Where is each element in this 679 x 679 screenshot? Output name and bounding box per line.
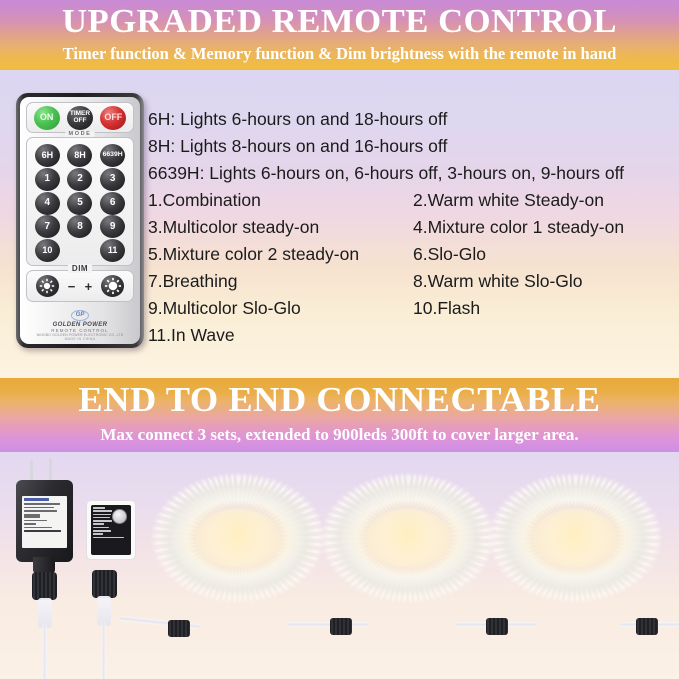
mode-item-1: 1.Combination	[148, 187, 413, 214]
remote-button-dim-down[interactable]	[36, 275, 59, 297]
timer-label-line2: OFF	[73, 118, 86, 125]
remote-button-6639h[interactable]: 6639H	[100, 144, 125, 167]
remote-button-3[interactable]: 3	[100, 168, 125, 191]
remote-control-device: ON TIMER OFF OFF MODE 6H 8H 6639H	[16, 93, 144, 348]
mode-item-4: 4.Mixture color 1 steady-on	[413, 214, 673, 241]
mode-item-8: 8.Warm white Slo-Glo	[413, 268, 673, 295]
controller-knob[interactable]	[112, 509, 127, 524]
remote-button-7[interactable]: 7	[35, 215, 60, 238]
controller-box	[86, 500, 136, 560]
mode-item-11: 11.In Wave	[148, 322, 413, 349]
mode-item-empty	[413, 322, 673, 349]
brightness-low-icon	[39, 278, 55, 294]
remote-number-row-4: 10 11	[31, 239, 129, 262]
timer-line-6h: 6H: Lights 6-hours on and 18-hours off	[148, 106, 673, 133]
remote-mode-keypad: 6H 8H 6639H 1 2 3 4 5 6	[26, 137, 134, 266]
remote-button-off[interactable]: OFF	[100, 106, 126, 130]
banner-upgraded-remote-control: UPGRADED REMOTE CONTROL Timer function &…	[0, 0, 679, 70]
remote-dim-plus-sign: +	[85, 280, 93, 293]
remote-button-6h[interactable]: 6H	[35, 144, 60, 167]
timer-line-6639h: 6639H: Lights 6-hours on, 6-hours off, 3…	[148, 160, 673, 187]
remote-mode-section: MODE 6H 8H 6639H 1 2 3	[26, 137, 134, 266]
coil-3-glow	[533, 509, 617, 567]
mode-item-6: 6.Slo-Glo	[413, 241, 673, 268]
remote-button-11[interactable]: 11	[100, 239, 125, 262]
set-connector-2	[330, 618, 352, 635]
gp-logo-icon: GP	[71, 310, 89, 321]
adapter-connector-barrel	[32, 572, 57, 600]
remote-dim-row: − +	[26, 270, 134, 302]
controller-wire	[101, 622, 106, 679]
banner-end-to-end-connectable: END TO END CONNECTABLE Max connect 3 set…	[0, 378, 679, 452]
remote-hour-row: 6H 8H 6639H	[31, 144, 129, 167]
remote-button-10[interactable]: 10	[35, 239, 60, 262]
remote-number-row-3: 7 8 9	[31, 215, 129, 238]
remote-button-8[interactable]: 8	[67, 215, 92, 238]
timer-line-8h: 8H: Lights 8-hours on and 16-hours off	[148, 133, 673, 160]
banner-mid-title: END TO END CONNECTABLE	[0, 378, 679, 417]
controller-connector-barrel	[92, 570, 117, 598]
power-adapter	[16, 480, 73, 562]
remote-info-panel: ON TIMER OFF OFF MODE 6H 8H 6639H	[0, 70, 679, 378]
remote-button-4[interactable]: 4	[35, 192, 60, 215]
set-connector-4	[636, 618, 658, 635]
remote-faceplate: ON TIMER OFF OFF MODE 6H 8H 6639H	[20, 97, 140, 344]
link-wire-1-2	[288, 622, 368, 627]
mode-item-10: 10.Flash	[413, 295, 673, 322]
banner-top-title: UPGRADED REMOTE CONTROL	[0, 0, 679, 39]
remote-dim-label: DIM	[68, 264, 92, 273]
coil-2-glow	[366, 509, 450, 567]
banner-top-subtitle: Timer function & Memory function & Dim b…	[0, 39, 679, 63]
remote-dim-minus-sign: −	[68, 280, 76, 293]
remote-button-9[interactable]: 9	[100, 215, 125, 238]
set-connector-3	[486, 618, 508, 635]
product-infographic: UPGRADED REMOTE CONTROL Timer function &…	[0, 0, 679, 679]
remote-power-row: ON TIMER OFF OFF	[26, 102, 134, 133]
remote-origin: MADE IN CHINA	[26, 338, 134, 341]
remote-button-6[interactable]: 6	[100, 192, 125, 215]
remote-button-2[interactable]: 2	[67, 168, 92, 191]
remote-button-8h[interactable]: 8H	[67, 144, 92, 167]
remote-dim-section: DIM	[26, 270, 134, 302]
remote-keypad-gap	[67, 239, 92, 262]
remote-button-timer-off[interactable]: TIMER OFF	[67, 106, 93, 130]
remote-mode-label: MODE	[66, 131, 95, 137]
remote-button-on[interactable]: ON	[34, 106, 60, 130]
mode-list: 1.Combination 2.Warm white Steady-on 3.M…	[148, 187, 673, 349]
adapter-neck	[33, 557, 55, 573]
feature-description-text: 6H: Lights 6-hours on and 18-hours off 8…	[148, 106, 673, 349]
adapter-wire	[42, 624, 47, 679]
remote-button-1[interactable]: 1	[35, 168, 60, 191]
mode-item-2: 2.Warm white Steady-on	[413, 187, 673, 214]
remote-number-row-1: 1 2 3	[31, 168, 129, 191]
light-coil-2	[320, 472, 496, 604]
product-photo-connectable-sets	[0, 452, 679, 679]
controller-mode-label	[91, 505, 131, 555]
light-coil-1	[150, 472, 326, 604]
remote-button-5[interactable]: 5	[67, 192, 92, 215]
remote-button-dim-up[interactable]	[101, 275, 124, 297]
light-coil-3	[487, 472, 663, 604]
mode-item-7: 7.Breathing	[148, 268, 413, 295]
mode-item-5: 5.Mixture color 2 steady-on	[148, 241, 413, 268]
banner-mid-subtitle: Max connect 3 sets, extended to 900leds …	[0, 417, 679, 443]
mode-item-9: 9.Multicolor Slo-Glo	[148, 295, 413, 322]
brightness-high-icon	[104, 278, 121, 295]
adapter-label	[22, 496, 67, 548]
mode-item-3: 3.Multicolor steady-on	[148, 214, 413, 241]
remote-branding-footer: GP GOLDEN POWER REMOTE CONTROL NINGBO GO…	[26, 302, 134, 341]
remote-number-row-2: 4 5 6	[31, 192, 129, 215]
set-connector-1	[168, 620, 190, 637]
coil-1-glow	[196, 509, 280, 567]
